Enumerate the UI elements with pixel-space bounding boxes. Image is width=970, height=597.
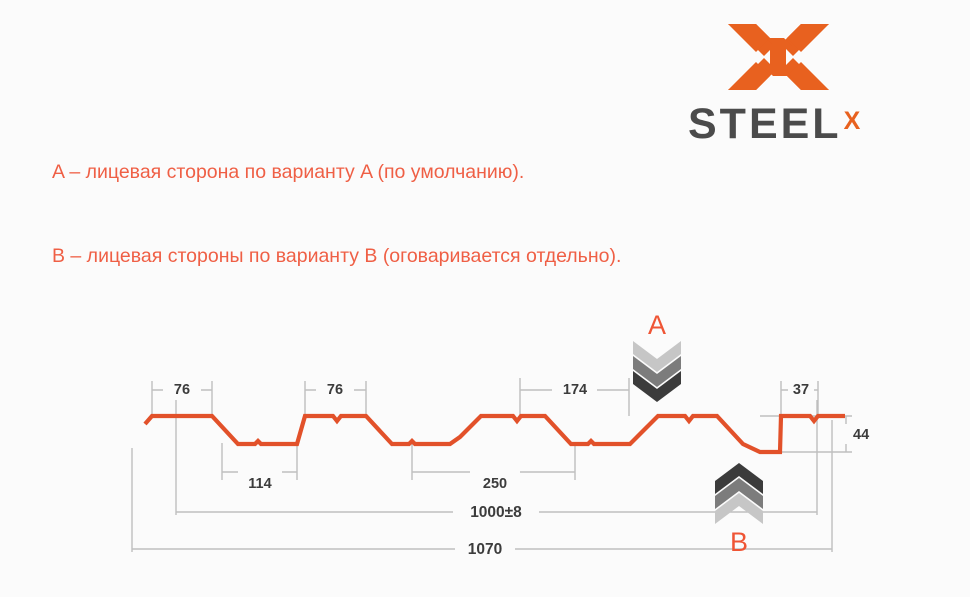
profile-cross-section-line: [145, 416, 845, 452]
dimension-label-114: 114: [248, 476, 271, 492]
marker-a-chevrons: [633, 341, 681, 402]
profile-technical-drawing: 76 76 174 37 44 114 250 1000±8 1070 A: [0, 0, 970, 597]
dimension-label-37: 37: [793, 382, 809, 398]
marker-a-letter: A: [648, 310, 666, 340]
marker-b-chevrons: [715, 463, 763, 524]
marker-b: B: [715, 463, 763, 557]
page-root: STEEL X A – лицевая сторона по варианту …: [0, 0, 970, 597]
marker-a: A: [633, 310, 681, 402]
dimension-label-174: 174: [563, 382, 587, 398]
marker-b-letter: B: [730, 527, 748, 557]
dimension-label-44: 44: [853, 427, 869, 443]
dimension-text-backings: [163, 379, 870, 559]
dimension-label-76-mid: 76: [327, 382, 343, 398]
dimension-label-250: 250: [483, 476, 507, 492]
dimension-label-1000: 1000±8: [470, 504, 522, 521]
dimension-label-76-left: 76: [174, 382, 190, 398]
dimension-label-1070: 1070: [468, 541, 502, 558]
